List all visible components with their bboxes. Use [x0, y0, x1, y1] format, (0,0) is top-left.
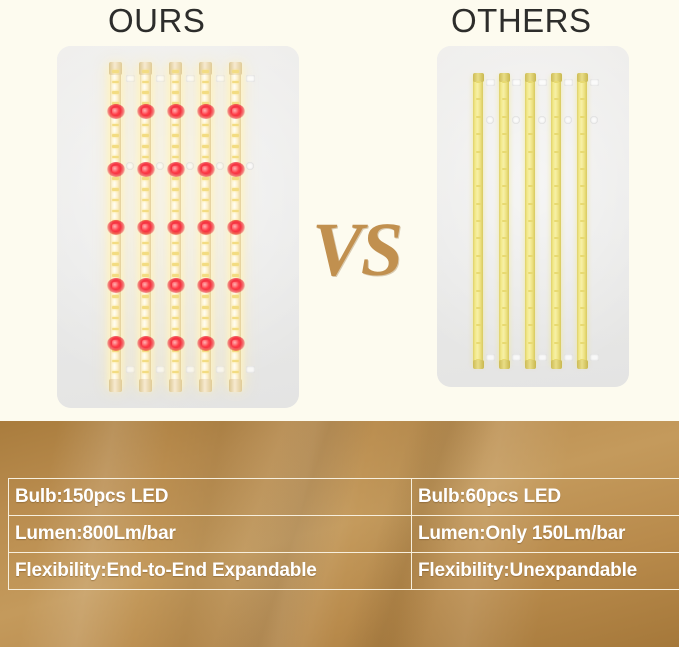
- led-yellow-icon: [502, 81, 507, 83]
- spec-table-row: Bulb:150pcs LEDBulb:60pcs LED: [9, 479, 679, 516]
- mounting-clip-icon: [512, 116, 520, 124]
- mounting-clip-icon: [590, 79, 599, 86]
- led-yellow-icon: [476, 116, 481, 118]
- led-warm-white-icon: [202, 124, 209, 127]
- led-yellow-icon: [476, 133, 481, 135]
- led-yellow-icon: [528, 168, 533, 170]
- led-yellow-icon: [502, 151, 507, 153]
- led-warm-white-icon: [232, 156, 239, 159]
- led-warm-white-icon: [112, 306, 119, 309]
- led-red-icon: [107, 336, 125, 351]
- product-panel-others: [437, 46, 629, 387]
- led-yellow-icon: [476, 237, 481, 239]
- led-warm-white-icon: [112, 317, 119, 320]
- led-red-icon: [107, 162, 125, 177]
- led-warm-white-icon: [232, 210, 239, 213]
- led-warm-white-icon: [142, 177, 149, 180]
- led-warm-white-icon: [232, 317, 239, 320]
- led-yellow-icon: [580, 290, 585, 292]
- led-warm-white-icon: [172, 371, 179, 374]
- led-yellow-icon: [476, 168, 481, 170]
- led-warm-white-icon: [202, 91, 209, 94]
- led-warm-white-icon: [142, 199, 149, 202]
- led-warm-white-icon: [172, 210, 179, 213]
- led-warm-white-icon: [112, 70, 119, 73]
- led-yellow-icon: [580, 237, 585, 239]
- led-warm-white-icon: [202, 295, 209, 298]
- led-yellow-icon: [502, 324, 507, 326]
- led-yellow-icon: [554, 307, 559, 309]
- led-red-icon: [227, 220, 245, 235]
- led-warm-white-icon: [142, 81, 149, 84]
- led-yellow-icon: [502, 359, 507, 361]
- led-red-icon: [167, 278, 185, 293]
- led-warm-white-icon: [172, 199, 179, 202]
- mounting-clip-icon: [126, 75, 135, 82]
- led-bar-ours: [110, 66, 121, 388]
- led-red-icon: [137, 278, 155, 293]
- led-red-icon: [107, 104, 125, 119]
- mounting-clip-icon: [156, 75, 165, 82]
- led-warm-white-icon: [142, 210, 149, 213]
- led-warm-white-icon: [202, 381, 209, 384]
- led-yellow-icon: [528, 255, 533, 257]
- led-yellow-icon: [528, 290, 533, 292]
- led-warm-white-icon: [142, 91, 149, 94]
- led-warm-white-icon: [232, 242, 239, 245]
- spec-cell-ours: Lumen:800Lm/bar: [9, 516, 412, 553]
- led-red-icon: [197, 220, 215, 235]
- led-warm-white-icon: [142, 317, 149, 320]
- led-bar-ours: [200, 66, 211, 388]
- led-warm-white-icon: [232, 124, 239, 127]
- led-warm-white-icon: [112, 252, 119, 255]
- led-warm-white-icon: [202, 199, 209, 202]
- led-yellow-icon: [528, 220, 533, 222]
- led-yellow-icon: [476, 307, 481, 309]
- led-yellow-icon: [528, 133, 533, 135]
- led-warm-white-icon: [142, 70, 149, 73]
- led-strip-yellow: [474, 81, 482, 361]
- led-yellow-icon: [528, 151, 533, 153]
- mounting-clip-icon: [512, 79, 521, 86]
- led-yellow-icon: [476, 342, 481, 344]
- led-warm-white-icon: [172, 242, 179, 245]
- spec-cell-ours: Bulb:150pcs LED: [9, 479, 412, 516]
- mounting-clip-icon: [246, 366, 255, 373]
- led-yellow-icon: [502, 342, 507, 344]
- led-warm-white-icon: [172, 177, 179, 180]
- led-warm-white-icon: [232, 328, 239, 331]
- led-warm-white-icon: [172, 188, 179, 191]
- led-bar-others: [551, 76, 561, 366]
- mounting-clip-icon: [156, 366, 165, 373]
- led-strip-yellow: [552, 81, 560, 361]
- led-warm-white-icon: [112, 242, 119, 245]
- led-warm-white-icon: [202, 360, 209, 363]
- led-yellow-icon: [476, 185, 481, 187]
- led-yellow-icon: [554, 133, 559, 135]
- led-yellow-icon: [502, 98, 507, 100]
- led-warm-white-icon: [172, 124, 179, 127]
- mounting-clip-icon: [186, 75, 195, 82]
- led-yellow-icon: [502, 116, 507, 118]
- led-warm-white-icon: [112, 145, 119, 148]
- led-yellow-icon: [502, 185, 507, 187]
- led-red-icon: [227, 162, 245, 177]
- led-yellow-icon: [528, 98, 533, 100]
- spec-table-body: Bulb:150pcs LEDBulb:60pcs LEDLumen:800Lm…: [9, 479, 679, 590]
- vs-label: VS: [312, 207, 401, 294]
- led-red-icon: [197, 104, 215, 119]
- led-yellow-icon: [580, 342, 585, 344]
- led-warm-white-icon: [112, 371, 119, 374]
- mounting-clip-icon: [590, 116, 598, 124]
- led-warm-white-icon: [112, 274, 119, 277]
- led-yellow-icon: [580, 168, 585, 170]
- led-warm-white-icon: [232, 306, 239, 309]
- led-red-icon: [137, 104, 155, 119]
- led-red-icon: [137, 162, 155, 177]
- led-warm-white-icon: [142, 328, 149, 331]
- mounting-clip-icon: [486, 79, 495, 86]
- led-yellow-icon: [554, 151, 559, 153]
- led-yellow-icon: [528, 359, 533, 361]
- led-yellow-icon: [554, 272, 559, 274]
- mounting-clip-icon: [246, 75, 255, 82]
- led-warm-white-icon: [232, 134, 239, 137]
- led-red-icon: [137, 336, 155, 351]
- led-yellow-icon: [476, 81, 481, 83]
- mounting-clip-icon: [564, 116, 572, 124]
- led-warm-white-icon: [232, 381, 239, 384]
- led-yellow-icon: [580, 307, 585, 309]
- led-warm-white-icon: [232, 371, 239, 374]
- led-yellow-icon: [528, 116, 533, 118]
- led-warm-white-icon: [172, 306, 179, 309]
- led-warm-white-icon: [142, 371, 149, 374]
- led-warm-white-icon: [142, 295, 149, 298]
- led-warm-white-icon: [202, 134, 209, 137]
- led-warm-white-icon: [112, 81, 119, 84]
- led-red-icon: [107, 278, 125, 293]
- led-red-icon: [167, 104, 185, 119]
- mounting-clip-icon: [486, 354, 495, 361]
- led-warm-white-icon: [202, 328, 209, 331]
- spec-cell-others: Bulb:60pcs LED: [412, 479, 679, 516]
- led-red-icon: [227, 278, 245, 293]
- led-yellow-icon: [528, 203, 533, 205]
- mounting-clip-icon: [538, 116, 546, 124]
- led-warm-white-icon: [172, 156, 179, 159]
- mounting-clip-icon: [564, 79, 573, 86]
- led-red-icon: [197, 278, 215, 293]
- led-yellow-icon: [580, 359, 585, 361]
- led-warm-white-icon: [142, 145, 149, 148]
- mounting-clip-icon: [590, 354, 599, 361]
- led-strip-yellow: [500, 81, 508, 361]
- led-bar-ours: [170, 66, 181, 388]
- led-warm-white-icon: [202, 145, 209, 148]
- product-panel-ours: [57, 46, 299, 408]
- led-red-icon: [227, 336, 245, 351]
- led-yellow-icon: [554, 98, 559, 100]
- led-bar-others: [577, 76, 587, 366]
- led-warm-white-icon: [142, 242, 149, 245]
- led-yellow-icon: [528, 237, 533, 239]
- heading-ours: OURS: [108, 2, 205, 40]
- led-warm-white-icon: [202, 274, 209, 277]
- mounting-clip-icon: [126, 366, 135, 373]
- led-yellow-icon: [554, 237, 559, 239]
- led-warm-white-icon: [142, 188, 149, 191]
- led-yellow-icon: [554, 168, 559, 170]
- led-yellow-icon: [528, 307, 533, 309]
- led-warm-white-icon: [232, 188, 239, 191]
- led-warm-white-icon: [142, 381, 149, 384]
- led-yellow-icon: [476, 151, 481, 153]
- led-warm-white-icon: [202, 306, 209, 309]
- led-warm-white-icon: [232, 295, 239, 298]
- led-yellow-icon: [476, 98, 481, 100]
- mounting-clip-icon: [216, 366, 225, 373]
- led-warm-white-icon: [202, 70, 209, 73]
- led-warm-white-icon: [112, 295, 119, 298]
- led-warm-white-icon: [112, 360, 119, 363]
- spec-cell-others: Lumen:Only 150Lm/bar: [412, 516, 679, 553]
- mounting-clip-icon: [186, 366, 195, 373]
- led-yellow-icon: [554, 255, 559, 257]
- led-yellow-icon: [528, 81, 533, 83]
- led-warm-white-icon: [172, 295, 179, 298]
- led-warm-white-icon: [232, 263, 239, 266]
- led-yellow-icon: [554, 81, 559, 83]
- led-yellow-icon: [502, 133, 507, 135]
- led-yellow-icon: [476, 220, 481, 222]
- led-yellow-icon: [580, 272, 585, 274]
- led-warm-white-icon: [202, 371, 209, 374]
- led-warm-white-icon: [202, 210, 209, 213]
- led-red-icon: [227, 104, 245, 119]
- led-warm-white-icon: [142, 252, 149, 255]
- mounting-clip-icon: [512, 354, 521, 361]
- led-yellow-icon: [580, 185, 585, 187]
- led-yellow-icon: [554, 116, 559, 118]
- led-warm-white-icon: [112, 263, 119, 266]
- led-warm-white-icon: [172, 70, 179, 73]
- led-warm-white-icon: [112, 91, 119, 94]
- led-yellow-icon: [528, 272, 533, 274]
- led-warm-white-icon: [202, 252, 209, 255]
- led-warm-white-icon: [142, 360, 149, 363]
- led-yellow-icon: [554, 203, 559, 205]
- led-yellow-icon: [476, 255, 481, 257]
- led-warm-white-icon: [142, 306, 149, 309]
- spec-comparison-table: Bulb:150pcs LEDBulb:60pcs LEDLumen:800Lm…: [8, 478, 679, 590]
- led-red-icon: [167, 162, 185, 177]
- led-yellow-icon: [580, 151, 585, 153]
- mounting-clip-icon: [186, 162, 194, 170]
- led-warm-white-icon: [112, 177, 119, 180]
- mounting-clip-icon: [216, 75, 225, 82]
- led-warm-white-icon: [172, 274, 179, 277]
- led-warm-white-icon: [232, 252, 239, 255]
- led-yellow-icon: [580, 98, 585, 100]
- led-warm-white-icon: [172, 360, 179, 363]
- comparison-graphic: OURS OTHERS VS Bulb:150pcs LEDBulb:60pcs…: [0, 0, 679, 647]
- led-strip-yellow: [526, 81, 534, 361]
- led-warm-white-icon: [172, 381, 179, 384]
- led-warm-white-icon: [112, 188, 119, 191]
- led-red-icon: [107, 220, 125, 235]
- mounting-clip-icon: [156, 162, 164, 170]
- led-bar-others: [473, 76, 483, 366]
- led-warm-white-icon: [232, 274, 239, 277]
- led-warm-white-icon: [232, 81, 239, 84]
- spec-cell-others: Flexibility:Unexpandable: [412, 553, 679, 590]
- led-yellow-icon: [580, 220, 585, 222]
- spec-table-row: Lumen:800Lm/barLumen:Only 150Lm/bar: [9, 516, 679, 553]
- led-warm-white-icon: [202, 263, 209, 266]
- led-yellow-icon: [476, 272, 481, 274]
- led-warm-white-icon: [112, 210, 119, 213]
- led-yellow-icon: [528, 185, 533, 187]
- led-yellow-icon: [528, 342, 533, 344]
- led-yellow-icon: [502, 307, 507, 309]
- led-red-icon: [197, 162, 215, 177]
- led-yellow-icon: [554, 342, 559, 344]
- led-yellow-icon: [476, 203, 481, 205]
- spec-table-row: Flexibility:End-to-End ExpandableFlexibi…: [9, 553, 679, 590]
- led-warm-white-icon: [172, 328, 179, 331]
- heading-others: OTHERS: [451, 2, 592, 40]
- led-warm-white-icon: [172, 81, 179, 84]
- led-bar-ours: [140, 66, 151, 388]
- led-warm-white-icon: [202, 81, 209, 84]
- led-warm-white-icon: [172, 91, 179, 94]
- led-warm-white-icon: [202, 177, 209, 180]
- led-red-icon: [197, 336, 215, 351]
- mounting-clip-icon: [486, 116, 494, 124]
- led-yellow-icon: [502, 220, 507, 222]
- led-yellow-icon: [476, 359, 481, 361]
- led-warm-white-icon: [172, 263, 179, 266]
- led-yellow-icon: [502, 272, 507, 274]
- led-yellow-icon: [554, 290, 559, 292]
- led-yellow-icon: [554, 359, 559, 361]
- led-warm-white-icon: [112, 124, 119, 127]
- led-warm-white-icon: [142, 156, 149, 159]
- led-warm-white-icon: [202, 242, 209, 245]
- mounting-clip-icon: [126, 162, 134, 170]
- led-warm-white-icon: [142, 274, 149, 277]
- led-yellow-icon: [528, 324, 533, 326]
- led-yellow-icon: [502, 290, 507, 292]
- led-warm-white-icon: [202, 188, 209, 191]
- mounting-clip-icon: [246, 162, 254, 170]
- led-bar-ours: [230, 66, 241, 388]
- led-warm-white-icon: [112, 156, 119, 159]
- led-yellow-icon: [502, 237, 507, 239]
- led-warm-white-icon: [112, 381, 119, 384]
- led-warm-white-icon: [172, 252, 179, 255]
- led-warm-white-icon: [202, 317, 209, 320]
- led-warm-white-icon: [232, 145, 239, 148]
- led-yellow-icon: [476, 324, 481, 326]
- led-red-icon: [167, 336, 185, 351]
- led-warm-white-icon: [232, 177, 239, 180]
- led-warm-white-icon: [232, 199, 239, 202]
- led-warm-white-icon: [142, 134, 149, 137]
- mounting-clip-icon: [216, 162, 224, 170]
- led-warm-white-icon: [112, 134, 119, 137]
- led-warm-white-icon: [172, 317, 179, 320]
- led-yellow-icon: [580, 324, 585, 326]
- led-yellow-icon: [476, 290, 481, 292]
- led-yellow-icon: [502, 255, 507, 257]
- led-yellow-icon: [580, 81, 585, 83]
- spec-cell-ours: Flexibility:End-to-End Expandable: [9, 553, 412, 590]
- led-warm-white-icon: [172, 134, 179, 137]
- led-yellow-icon: [580, 203, 585, 205]
- led-warm-white-icon: [232, 91, 239, 94]
- led-bar-others: [525, 76, 535, 366]
- mounting-clip-icon: [564, 354, 573, 361]
- led-warm-white-icon: [112, 328, 119, 331]
- mounting-clip-icon: [538, 79, 547, 86]
- led-warm-white-icon: [142, 124, 149, 127]
- led-warm-white-icon: [232, 360, 239, 363]
- led-warm-white-icon: [142, 263, 149, 266]
- led-yellow-icon: [554, 324, 559, 326]
- led-warm-white-icon: [112, 199, 119, 202]
- led-yellow-icon: [554, 185, 559, 187]
- led-red-icon: [167, 220, 185, 235]
- led-yellow-icon: [502, 203, 507, 205]
- led-warm-white-icon: [172, 145, 179, 148]
- led-warm-white-icon: [232, 70, 239, 73]
- led-red-icon: [137, 220, 155, 235]
- led-yellow-icon: [580, 133, 585, 135]
- led-yellow-icon: [554, 220, 559, 222]
- led-strip-yellow: [578, 81, 586, 361]
- led-yellow-icon: [502, 168, 507, 170]
- led-yellow-icon: [580, 116, 585, 118]
- mounting-clip-icon: [538, 354, 547, 361]
- led-bar-others: [499, 76, 509, 366]
- led-warm-white-icon: [202, 156, 209, 159]
- led-yellow-icon: [580, 255, 585, 257]
